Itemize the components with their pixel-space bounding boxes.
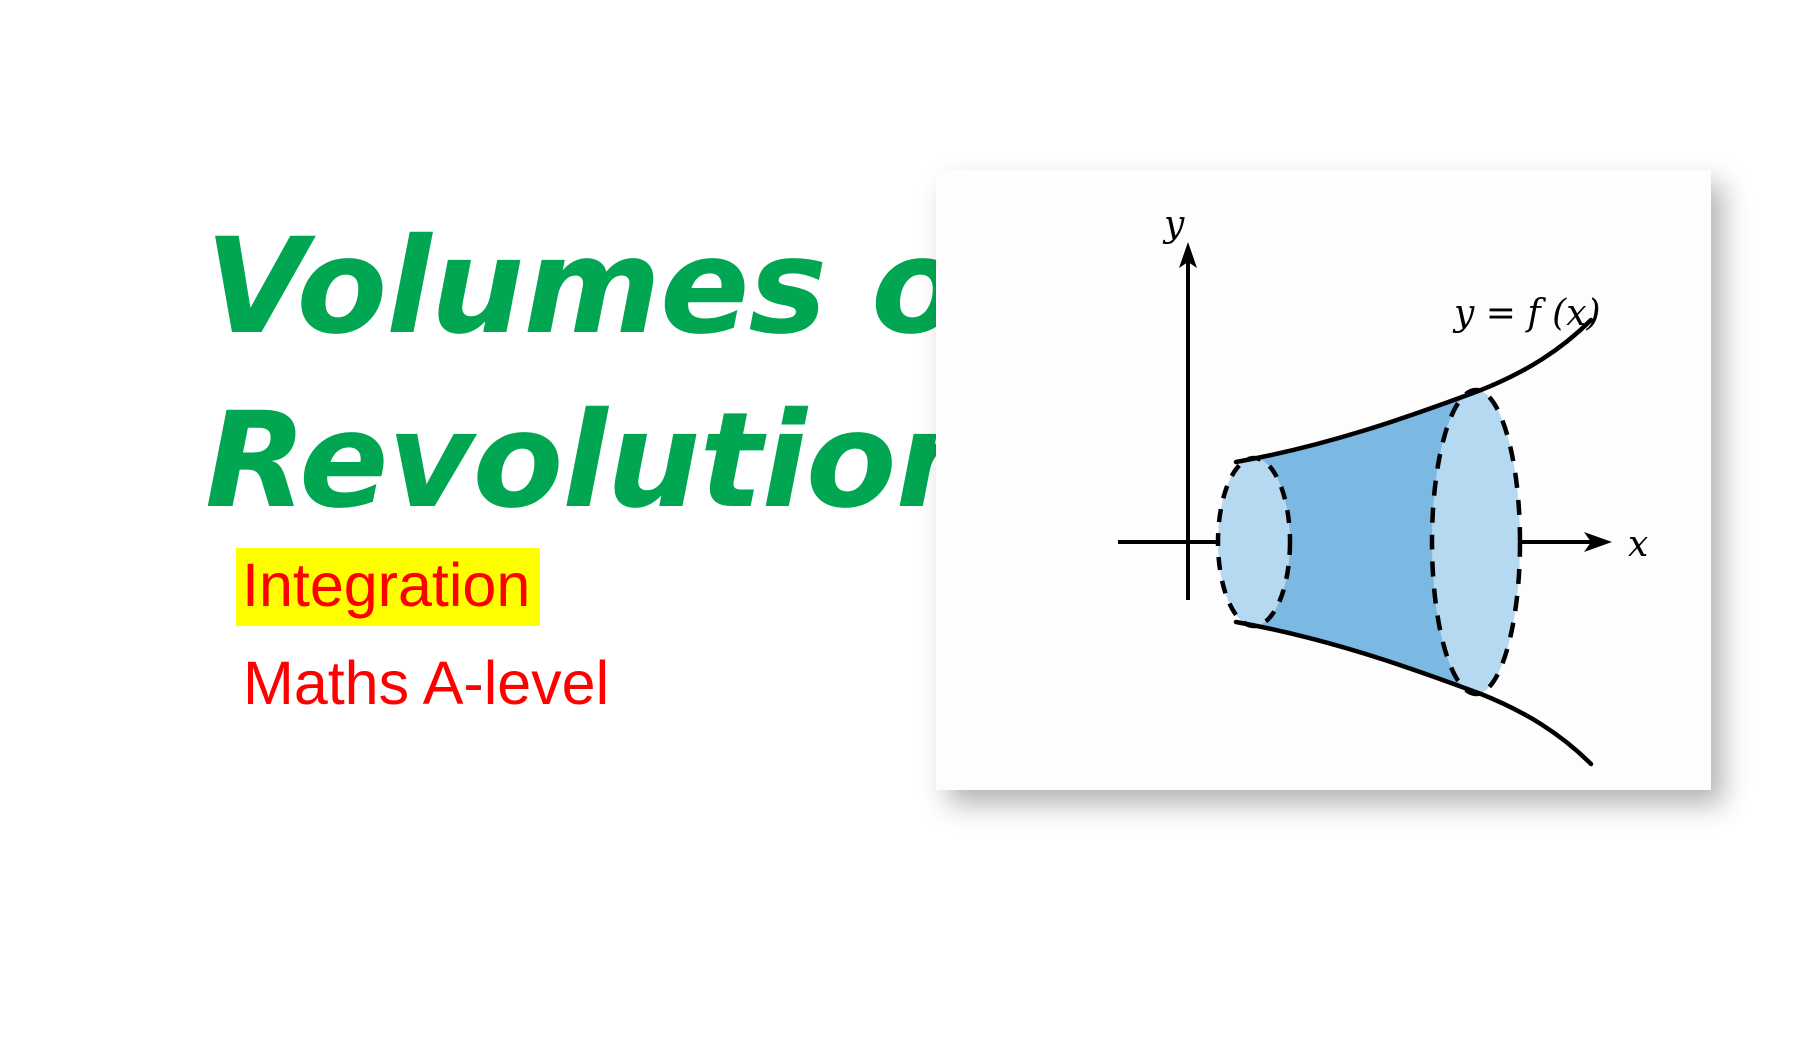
- figure-card: y x y = f (x): [936, 170, 1711, 790]
- slide-root: Volumes of Revolution Integration Maths …: [0, 0, 1818, 1059]
- course-label: Maths A-level: [243, 648, 609, 720]
- page-title: Volumes of Revolution: [205, 196, 1035, 552]
- x-axis-label: x: [1628, 524, 1648, 565]
- course-text: Maths A-level: [243, 649, 609, 717]
- subtitle-highlight: Integration: [236, 548, 540, 626]
- title-line-1: Volumes of: [205, 196, 1035, 378]
- y-axis-label: y: [1162, 204, 1185, 245]
- curve-label: y = f (x): [1452, 293, 1601, 334]
- subtitle: Integration: [236, 548, 540, 626]
- title-line-2: Revolution: [205, 370, 1035, 552]
- solid-of-revolution-diagram: y x y = f (x): [936, 170, 1711, 790]
- y-axis: [1179, 242, 1197, 600]
